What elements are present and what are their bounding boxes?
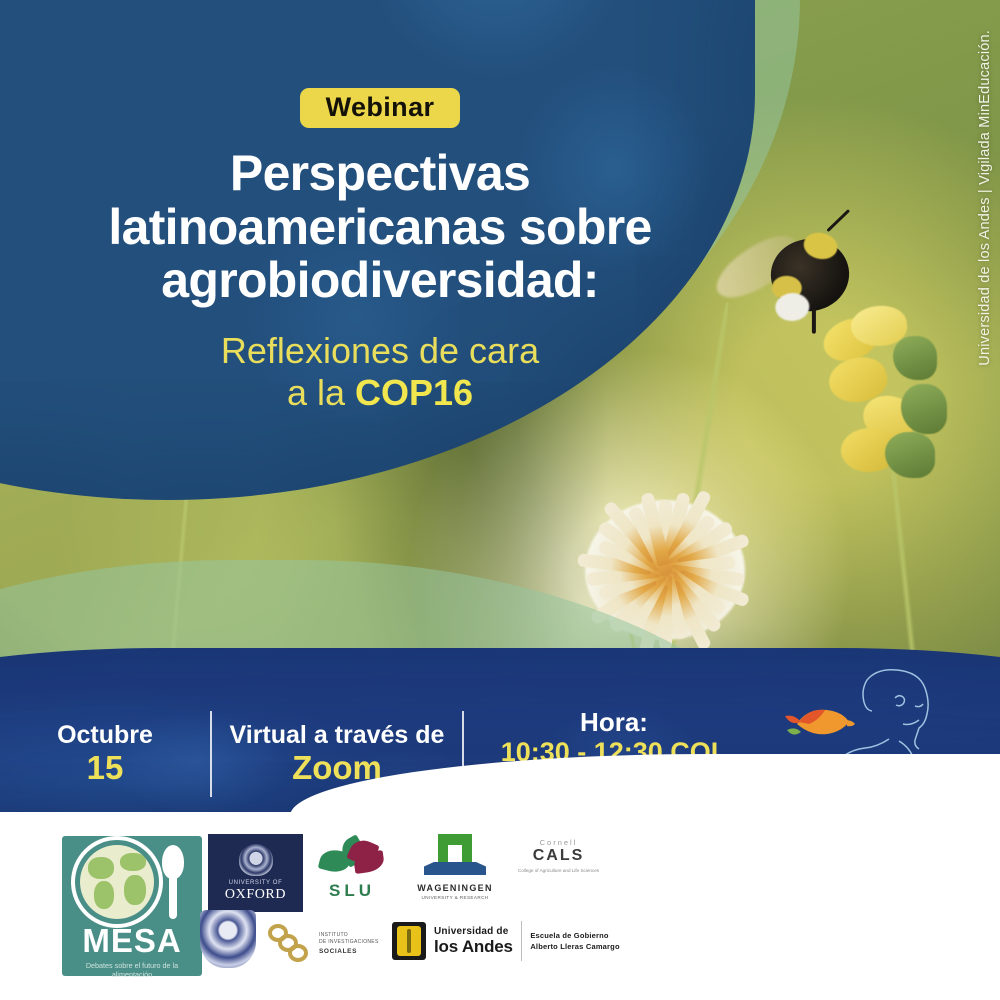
escuela-line-1: Escuela de Gobierno [530,930,619,941]
slu-leaf-icon [320,838,384,878]
subtitle-line-2: a la COP16 [60,372,700,414]
divider [521,921,523,961]
logo-slu: SLU [312,838,392,908]
logo-oxford: UNIVERSITY OF OXFORD [208,834,303,912]
logo-cornell-cals: Cornell CALS College of Agriculture and … [516,838,601,904]
cals-subtext: College of Agriculture and Life Sciences [516,868,601,875]
globe-icon [80,845,154,919]
webinar-badge: Webinar [300,88,461,128]
event-time-label: Hora: [464,708,764,737]
logo-wageningen: WAGENINGEN UNIVERSITY & RESEARCH [405,834,505,910]
partner-logos: MESA Debates sobre el futuro de la alime… [0,812,700,1000]
legal-text: Universidad de los Andes | Vigilada MinE… [977,30,993,366]
cals-wordmark: CALS [516,848,601,864]
iis-text: INSTITUTO DE INVESTIGACIONES SOCIALES [319,932,379,957]
event-month-label: Octubre [0,721,210,749]
mesa-tagline: Debates sobre el futuro de la alimentaci… [72,961,192,979]
escuela-gobierno-text: Escuela de Gobierno Alberto Lleras Camar… [530,930,619,953]
logo-unam [200,910,270,972]
wageningen-mark-icon [424,834,486,880]
title-line-1: Perspectivas [60,147,700,201]
page-title: Perspectivas latinoamericanas sobre agro… [60,147,700,308]
uniandes-mark-icon [392,922,426,960]
webinar-poster: Webinar Perspectivas latinoamericanas so… [0,0,1000,1000]
iis-line-2: DE INVESTIGACIONES [319,939,379,947]
page-subtitle: Reflexiones de cara a la COP16 [60,330,700,415]
oxford-wordmark: OXFORD [225,887,286,903]
mesa-wordmark: MESA [82,924,181,957]
logo-mesa: MESA Debates sobre el futuro de la alime… [62,836,202,976]
iis-line-1: INSTITUTO [319,932,379,940]
escuela-line-2: Alberto Lleras Camargo [530,941,619,952]
title-line-3: agrobiodiversidad: [60,254,700,308]
bird-icon [783,700,855,748]
event-day-value: 15 [0,749,210,788]
event-date: Octubre 15 [0,721,210,788]
hero-content: Webinar Perspectivas latinoamericanas so… [0,0,760,415]
iis-spiral-icon [266,922,312,966]
uniandes-line-2: los Andes [434,938,513,955]
slu-wordmark: SLU [312,881,392,901]
vertical-legal-text: Universidad de los Andes | Vigilada MinE… [972,30,998,550]
subtitle-line-1: Reflexiones de cara [60,330,700,372]
event-mode-label: Virtual a través de [212,721,462,749]
cop16-highlight: COP16 [355,372,473,413]
clover-flower [560,470,770,660]
title-line-2: latinoamericanas sobre [60,201,700,255]
wageningen-subtext: UNIVERSITY & RESEARCH [405,895,505,900]
oxford-crest-icon [239,844,273,876]
unam-shield-icon [200,910,256,968]
uniandes-line-1: Universidad de [434,927,513,937]
iis-line-3: SOCIALES [319,948,357,955]
subtitle-prefix: a la [287,372,355,413]
cornell-text: Cornell [516,838,601,847]
uniandes-wordmark: Universidad de los Andes [434,927,513,955]
wageningen-wordmark: WAGENINGEN [405,883,505,893]
spoon-icon [161,845,185,919]
logo-uniandes: Universidad de los Andes Escuela de Gobi… [392,912,622,970]
oxford-top-text: UNIVERSITY OF [229,880,283,886]
